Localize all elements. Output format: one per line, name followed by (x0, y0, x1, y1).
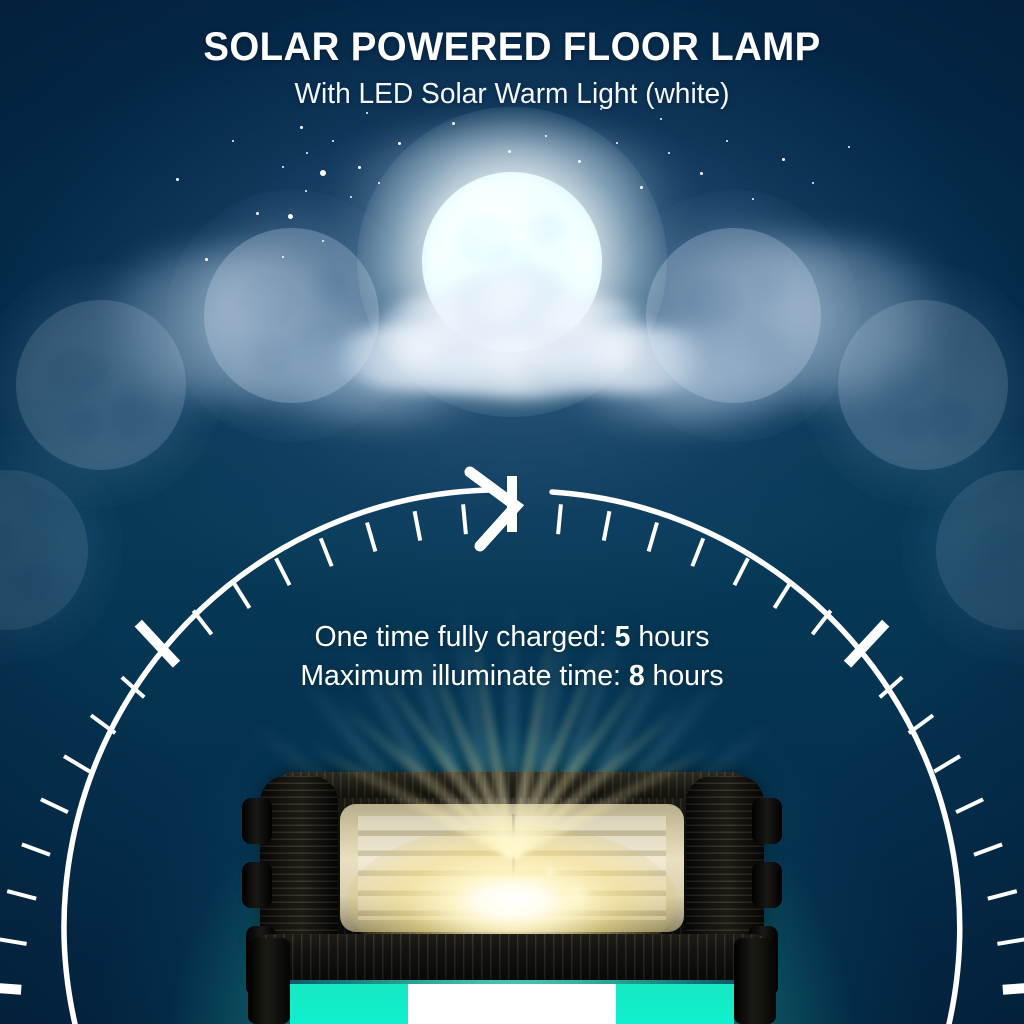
post-ribbing (260, 776, 338, 952)
lamp-clip (242, 862, 272, 908)
star-icon (782, 158, 785, 161)
star-icon (812, 182, 814, 184)
star-icon (256, 212, 259, 215)
spec-charge-unit: hours (638, 621, 709, 653)
spec-charge-label: One time fully charged: (315, 621, 607, 653)
spec-illuminate-value: 8 (629, 660, 645, 692)
star-icon (668, 152, 670, 154)
lamp-side-post-left (260, 776, 338, 952)
star-icon (700, 172, 703, 175)
solar-floor-lamp-icon (242, 762, 782, 1024)
star-icon (660, 118, 662, 120)
star-icon (320, 170, 326, 176)
star-icon (378, 182, 380, 184)
star-icon (282, 256, 284, 258)
lamp-base-panel (408, 984, 616, 1024)
page-subtitle: With LED Solar Warm Light (white) (15, 79, 1008, 111)
star-icon (398, 142, 401, 145)
star-icon (726, 140, 728, 142)
page-title: SOLAR POWERED FLOOR LAMP (20, 26, 1003, 68)
star-icon (306, 152, 308, 154)
led-warm-glow-icon (340, 804, 684, 932)
spec-illuminate-time: Maximum illuminate time: 8 hours (10, 657, 1014, 696)
spec-illuminate-label: Maximum illuminate time: (300, 660, 621, 692)
star-icon (332, 140, 334, 142)
star-icon (305, 190, 307, 192)
star-icon (282, 166, 284, 168)
star-icon (358, 166, 361, 169)
star-icon (578, 160, 581, 163)
led-panel-divider (512, 814, 515, 922)
star-icon (848, 146, 850, 148)
lip-ribbing (276, 772, 748, 798)
star-icon (176, 178, 179, 181)
star-icon (616, 142, 618, 144)
spec-charge-value: 5 (615, 621, 631, 653)
star-icon (752, 198, 754, 200)
spec-illuminate-unit: hours (653, 660, 724, 692)
star-icon (640, 186, 643, 189)
lamp-crossbar (256, 934, 768, 980)
lamp-clip (752, 862, 782, 908)
lamp-top-lip (276, 772, 748, 798)
lamp-clip (242, 798, 272, 844)
crossbar-ribbing (256, 934, 768, 980)
star-icon (452, 122, 455, 125)
header-block: SOLAR POWERED FLOOR LAMP With LED Solar … (0, 26, 1024, 111)
base-glow-left (290, 984, 410, 1024)
star-icon (232, 140, 234, 142)
star-icon (288, 214, 293, 219)
star-icon (350, 196, 352, 198)
star-icon (300, 126, 303, 129)
product-infographic: SOLAR POWERED FLOOR LAMP With LED Solar … (0, 0, 1024, 1024)
spec-charge-time: One time fully charged: 5 hours (10, 618, 1014, 657)
lamp-leg-left (248, 938, 290, 1024)
star-icon (205, 258, 208, 261)
star-icon (322, 240, 324, 242)
lamp-leg-right (734, 938, 776, 1024)
moon-icon (422, 172, 602, 352)
spec-block: One time fully charged: 5 hours Maximum … (0, 618, 1024, 697)
lamp-clip (752, 798, 782, 844)
star-icon (508, 150, 511, 153)
star-icon (366, 112, 368, 114)
star-icon (545, 135, 547, 137)
base-glow-right (614, 984, 734, 1024)
